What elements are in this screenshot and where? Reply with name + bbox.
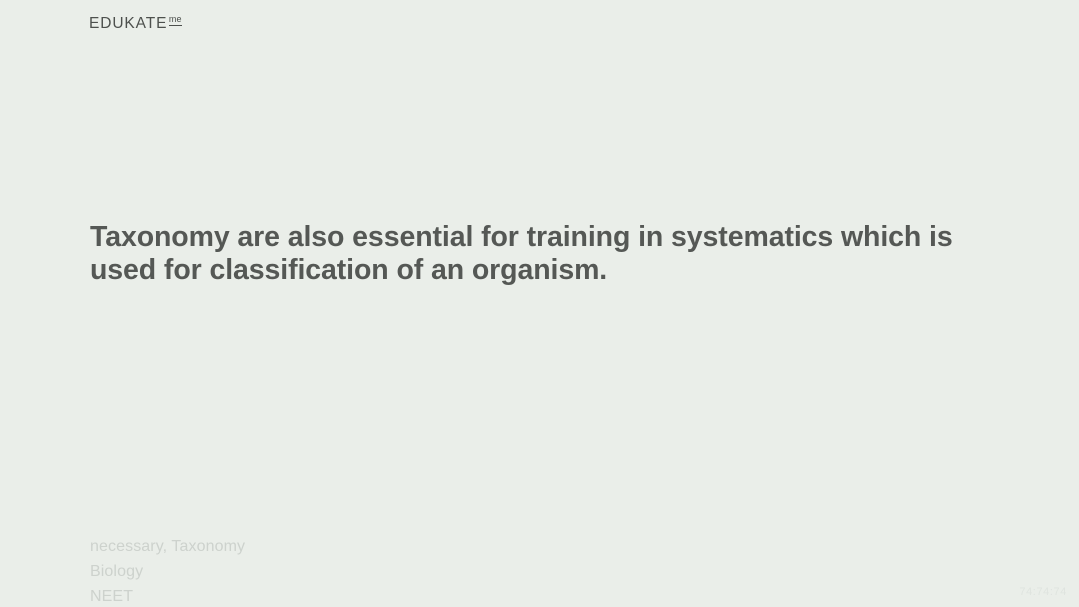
timestamp-watermark: 74:74:74 bbox=[1019, 586, 1067, 598]
slide-canvas: EDUKATEme Taxonomy are also essential fo… bbox=[0, 0, 1079, 607]
meta-line-subject: Biology bbox=[90, 559, 510, 584]
brand-logo-superscript: me bbox=[169, 15, 182, 26]
brand-logo-word: EDUKATE bbox=[89, 16, 167, 32]
brand-logo[interactable]: EDUKATEme bbox=[89, 16, 182, 32]
meta-line-exam: NEET bbox=[90, 584, 510, 607]
slide-headline: Taxonomy are also essential for training… bbox=[90, 221, 990, 287]
meta-line-keywords: necessary, Taxonomy bbox=[90, 534, 510, 559]
slide-meta-tags: necessary, Taxonomy Biology NEET bbox=[90, 534, 510, 607]
